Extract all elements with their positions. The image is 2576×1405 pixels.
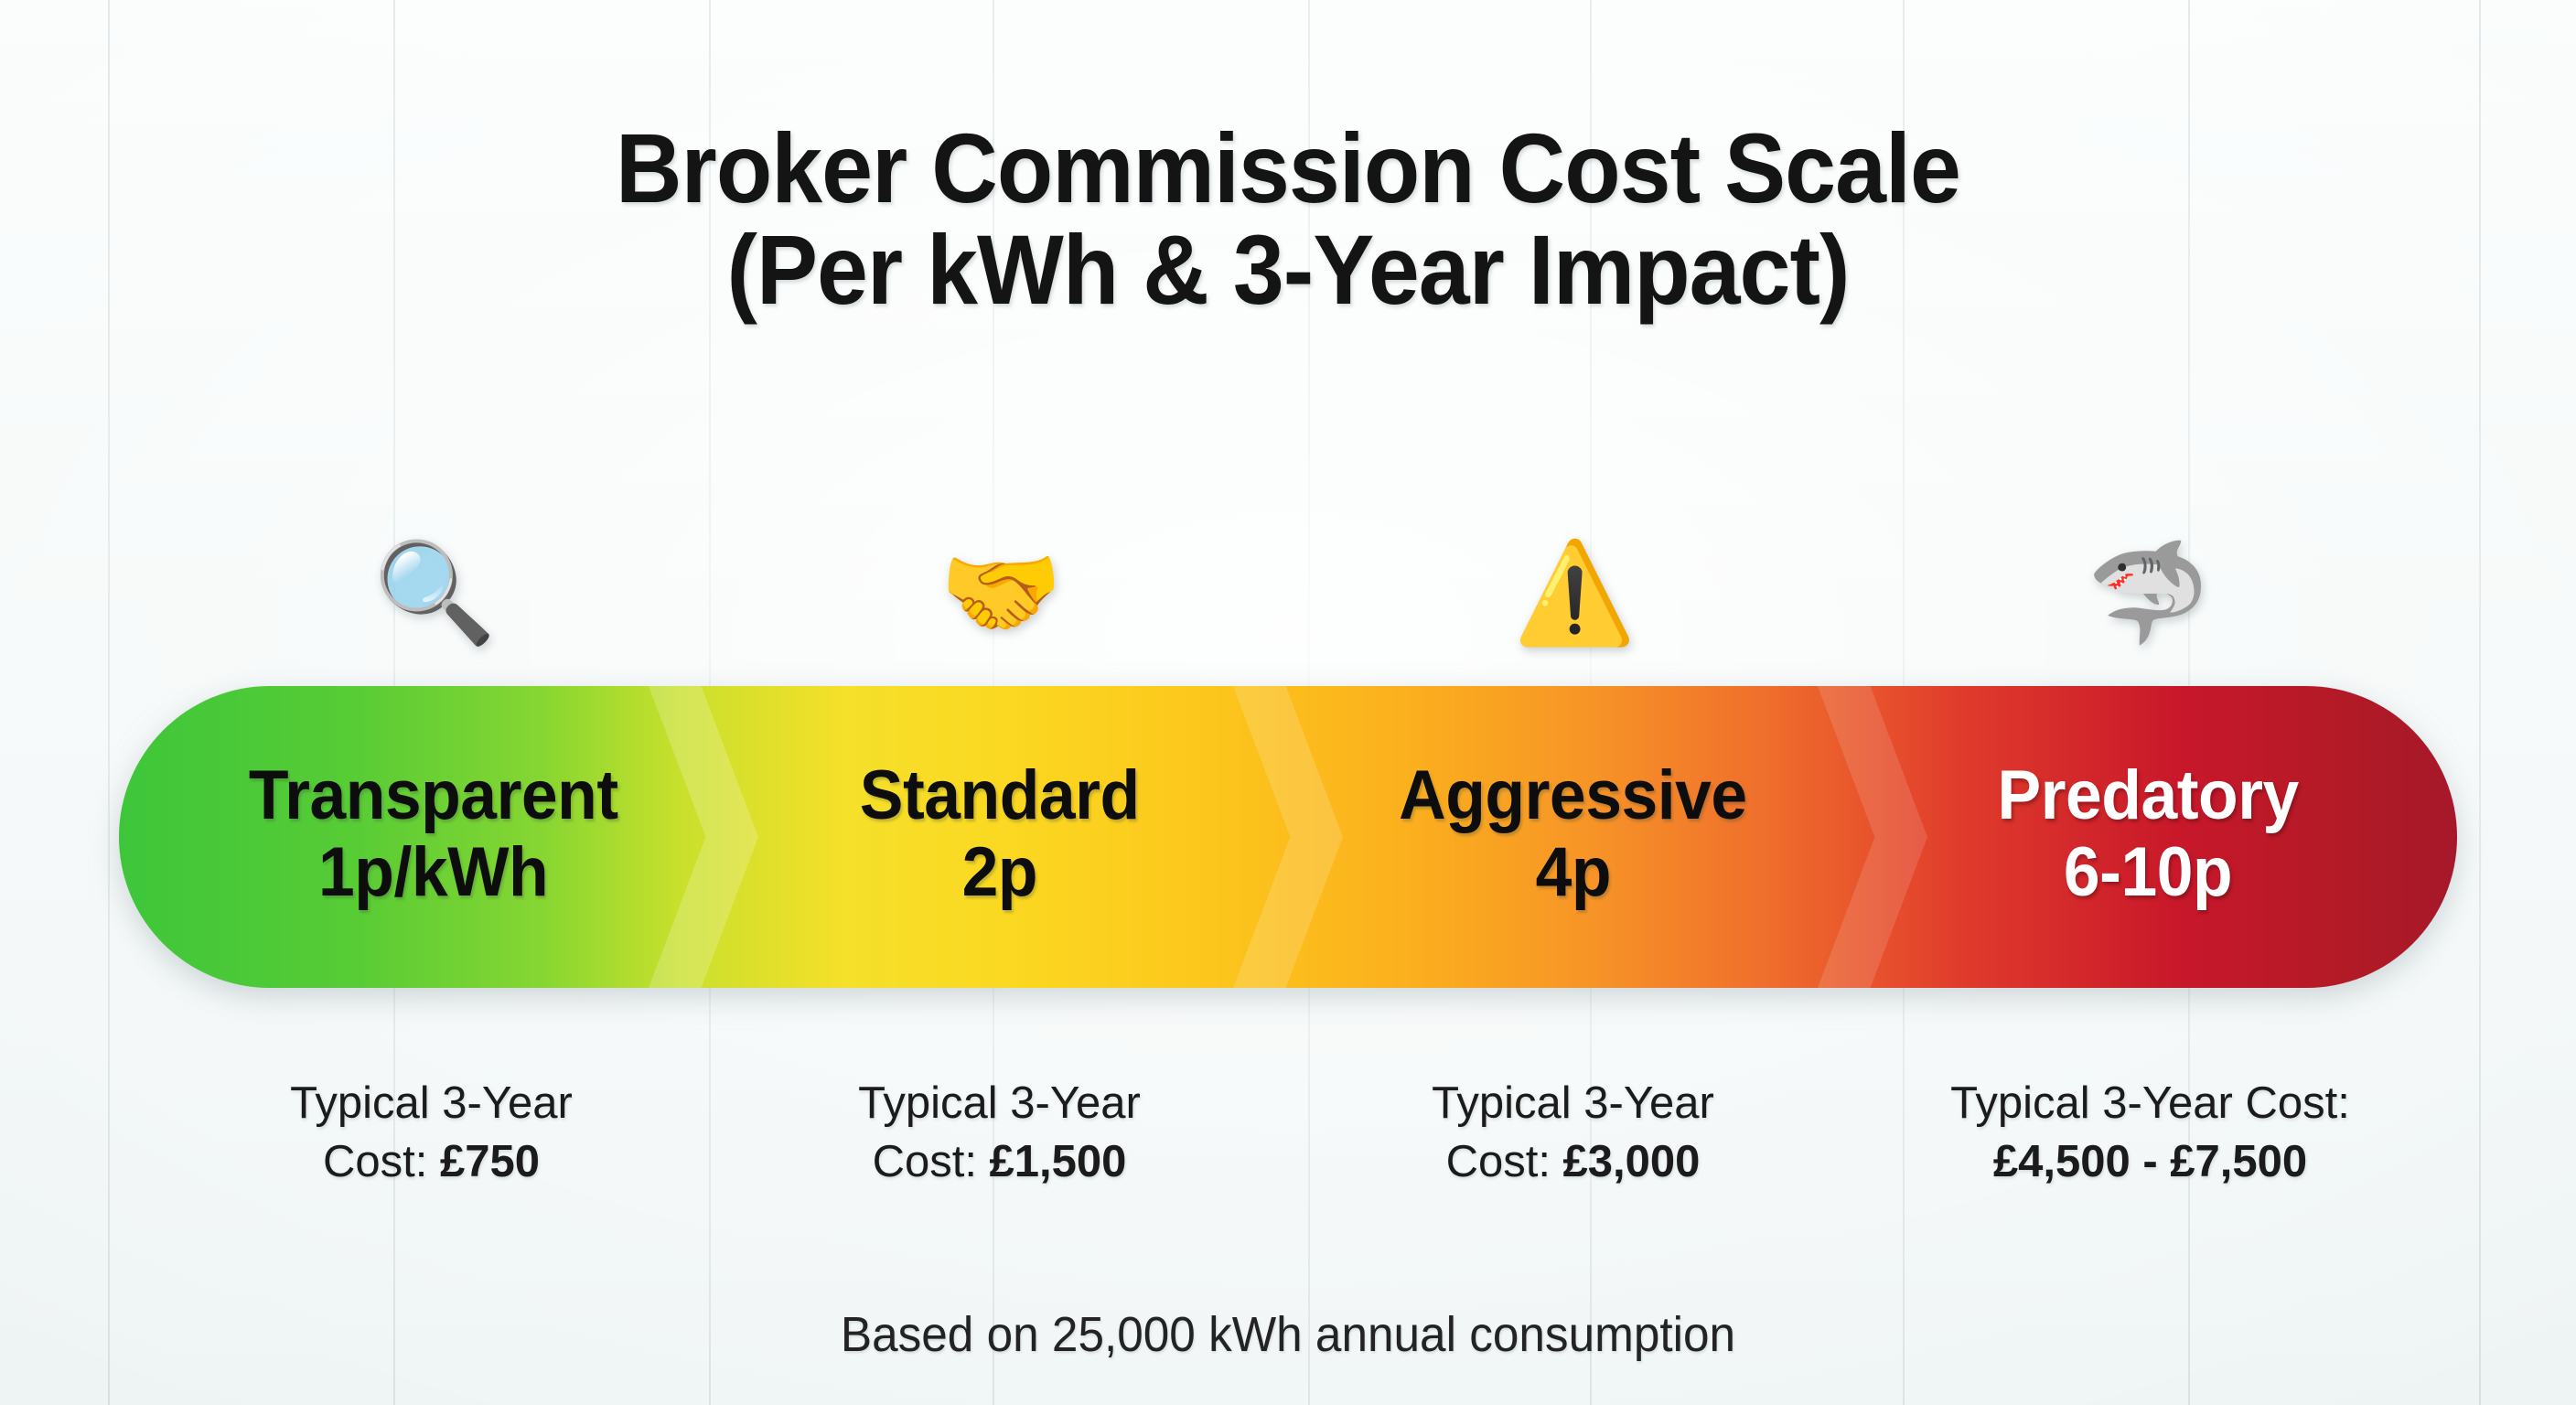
segment-name: Standard — [860, 760, 1140, 831]
footnote: Based on 25,000 kWh annual consumption — [64, 1306, 2511, 1363]
warning-triangle-icon: ⚠️ — [1283, 517, 1867, 668]
shark-icon: 🦈 — [1856, 517, 2441, 668]
cost-label-2: Cost: — [873, 1137, 990, 1186]
segment-price: 2p — [961, 831, 1036, 914]
scale-segment-transparent: Transparent 1p/kWh — [141, 686, 725, 988]
segment-price: 4p — [1535, 831, 1610, 914]
segment-name: Predatory — [1998, 760, 2299, 831]
page-title: Broker Commission Cost Scale (Per kWh & … — [0, 117, 2576, 320]
cost-label-2: Cost: — [323, 1137, 440, 1186]
commission-scale-bar: Transparent 1p/kWh Standard 2p Aggressiv… — [119, 686, 2457, 988]
three-year-cost-row: Typical 3-Year Cost: £750 Typical 3-Year… — [119, 1075, 2457, 1191]
title-line-2: (Per kWh & 3-Year Impact) — [91, 219, 2486, 320]
cost-caption-aggressive: Typical 3-Year Cost: £3,000 — [1281, 1075, 1865, 1191]
scale-segment-labels: Transparent 1p/kWh Standard 2p Aggressiv… — [119, 686, 2457, 988]
title-line-1: Broker Commission Cost Scale — [91, 117, 2486, 219]
cost-caption-standard: Typical 3-Year Cost: £1,500 — [707, 1075, 1292, 1191]
infographic-canvas: Broker Commission Cost Scale (Per kWh & … — [0, 0, 2576, 1405]
magnifying-glass-icon: 🔍 — [143, 517, 727, 668]
cost-label: Typical 3-Year — [1432, 1078, 1714, 1128]
cost-caption-transparent: Typical 3-Year Cost: £750 — [139, 1075, 724, 1191]
scale-segment-predatory: Predatory 6-10p — [1856, 686, 2441, 988]
scale-segment-aggressive: Aggressive 4p — [1281, 686, 1865, 988]
cost-caption-predatory: Typical 3-Year Cost: £4,500 - £7,500 — [1858, 1075, 2442, 1191]
handshake-icon: 🤝 — [709, 517, 1293, 668]
cost-amount: £3,000 — [1563, 1137, 1701, 1186]
cost-label: Typical 3-Year — [858, 1078, 1141, 1128]
segment-price: 1p/kWh — [318, 831, 548, 914]
tier-icon-row: 🔍 🤝 ⚠️ 🦈 — [119, 517, 2457, 668]
cost-amount: £1,500 — [990, 1137, 1127, 1186]
segment-name: Aggressive — [1399, 760, 1746, 831]
segment-price: 6-10p — [2064, 831, 2232, 914]
cost-amount: £750 — [440, 1137, 540, 1186]
gradient-track: Transparent 1p/kWh Standard 2p Aggressiv… — [119, 686, 2457, 988]
segment-name: Transparent — [249, 760, 618, 831]
cost-label-2: Cost: — [1446, 1137, 1563, 1186]
cost-label: Typical 3-Year — [290, 1078, 573, 1128]
scale-segment-standard: Standard 2p — [707, 686, 1292, 988]
cost-amount: £4,500 - £7,500 — [1993, 1137, 2307, 1186]
cost-label: Typical 3-Year Cost: — [1950, 1078, 2350, 1128]
